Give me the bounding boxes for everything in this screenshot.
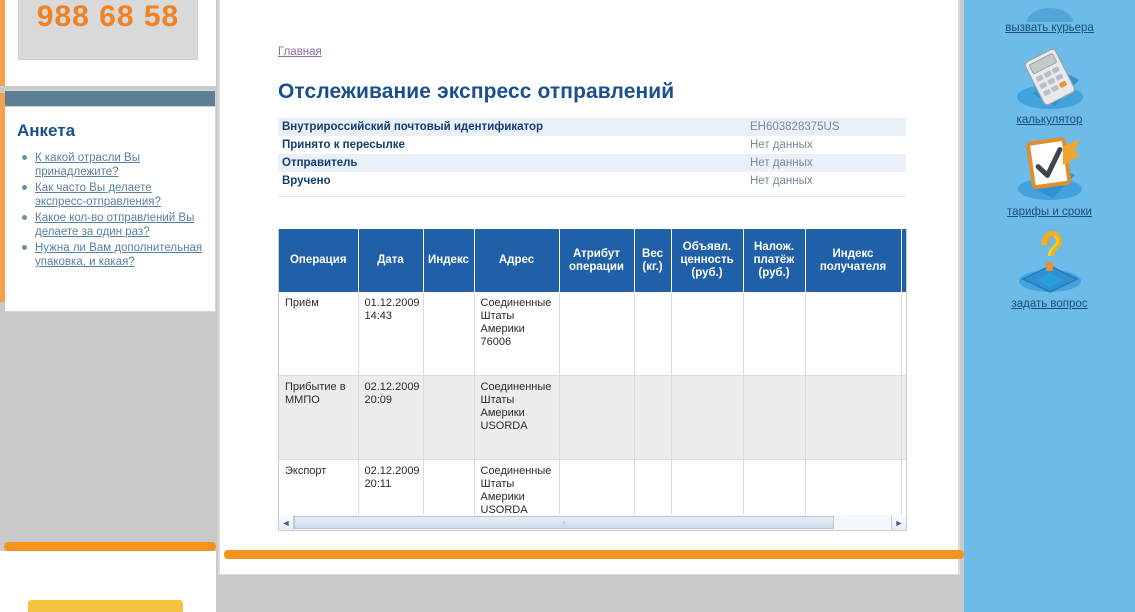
left-footer-yellow-tab [28, 600, 183, 612]
left-bottom-orange-bar [4, 542, 216, 551]
sidebar-item-calculator[interactable]: калькулятор [964, 114, 1135, 126]
table-row: Экспорт 02.12.2009 20:11 Соединенные Шта… [279, 460, 907, 516]
cell-index [423, 460, 474, 516]
cell-index [423, 292, 474, 376]
info-value: Нет данных [746, 154, 906, 172]
info-key: Вручено [278, 172, 746, 190]
cell-extra [901, 292, 907, 376]
question-mark-icon[interactable] [964, 224, 1135, 298]
column-header-cash-on-delivery[interactable]: Налож. платёж (руб.) [743, 230, 805, 292]
column-header-weight[interactable]: Вес (кг.) [634, 230, 671, 292]
cell-date: 02.12.2009 20:09 [358, 376, 423, 460]
list-item[interactable]: К какой отрасли Вы принадлежите? [33, 151, 205, 179]
info-value: Нет данных [746, 172, 906, 190]
cell-address: Соединенные Штаты Америки USORDA [474, 376, 559, 460]
sidebar-item-label[interactable]: тарифы и сроки [964, 206, 1135, 218]
cell-cod [743, 376, 805, 460]
breadcrumb-link-home[interactable]: Главная [278, 46, 322, 58]
info-key: Принято к пересылке [278, 136, 746, 154]
list-item[interactable]: Нужна ли Вам дополнительная упаковка, и … [33, 241, 205, 269]
info-value: Нет данных [746, 136, 906, 154]
table-row: Внутрироссийский почтовый идентификатор … [278, 118, 906, 136]
cell-operation: Прибытие в ММПО [279, 376, 358, 460]
calculator-icon[interactable] [964, 40, 1135, 114]
operations-table-viewport: Операция Дата Индекс Адрес Атрибут опера… [278, 229, 907, 515]
cell-declared-value [671, 376, 743, 460]
table-row: Отправитель Нет данных [278, 154, 906, 172]
horizontal-scrollbar[interactable]: ◄ ▫ ► [278, 515, 907, 531]
column-header-operation-attribute[interactable]: Атрибут операции [559, 230, 634, 292]
courier-icon[interactable] [964, 0, 1135, 22]
sidebar-item-label[interactable]: калькулятор [964, 114, 1135, 126]
column-header-index[interactable]: Индекс [423, 230, 474, 292]
cell-extra [901, 376, 907, 460]
sidebar-item-label[interactable]: вызвать курьера [964, 22, 1135, 34]
cell-attribute [559, 292, 634, 376]
operations-table: Операция Дата Индекс Адрес Атрибут опера… [279, 229, 907, 515]
cell-attribute [559, 376, 634, 460]
cell-cod [743, 460, 805, 516]
cell-date: 02.12.2009 20:11 [358, 460, 423, 516]
cell-weight [634, 376, 671, 460]
scrollbar-track[interactable]: ▫ [294, 515, 891, 530]
cell-operation: Приём [279, 292, 358, 376]
info-key: Отправитель [278, 154, 746, 172]
cell-address: Соединенные Штаты Америки 76006 [474, 292, 559, 376]
column-header-address[interactable]: Адрес [474, 230, 559, 292]
breadcrumb: Главная [278, 44, 958, 58]
sidebar-item-ask-question[interactable]: задать вопрос [964, 298, 1135, 310]
table-header-row: Операция Дата Индекс Адрес Атрибут опера… [279, 230, 907, 292]
column-header-declared-value[interactable]: Объявл. ценность (руб.) [671, 230, 743, 292]
right-sidebar: вызвать курьера калькулятор [964, 0, 1135, 612]
anketa-link-industry[interactable]: К какой отрасли Вы принадлежите? [35, 152, 140, 178]
anketa-title: Анкета [17, 121, 205, 141]
cell-address: Соединенные Штаты Америки USORDA [474, 460, 559, 516]
cell-extra [901, 460, 907, 516]
info-key: Внутрироссийский почтовый идентификатор [278, 118, 746, 136]
main-content-panel: Главная Отслеживание экспресс отправлени… [218, 0, 960, 575]
anketa-link-quantity[interactable]: Какое кол-во отправлений Вы делаете за о… [35, 212, 194, 238]
cell-cod [743, 292, 805, 376]
checklist-icon[interactable] [964, 132, 1135, 206]
info-value: EH603828375US [746, 118, 906, 136]
anketa-link-packaging[interactable]: Нужна ли Вам дополнительная упаковка, и … [35, 242, 202, 268]
list-item[interactable]: Как часто Вы делаете экспресс-отправлени… [33, 181, 205, 209]
cell-recipient-index [805, 460, 901, 516]
anketa-panel-header-bar [5, 91, 215, 107]
column-header-date[interactable]: Дата [358, 230, 423, 292]
list-item[interactable]: Какое кол-во отправлений Вы делаете за о… [33, 211, 205, 239]
phone-number: 988 68 58 [19, 1, 197, 33]
page-title: Отслеживание экспресс отправлений [278, 80, 958, 104]
sidebar-item-courier[interactable]: вызвать курьера [964, 22, 1135, 34]
column-header-recipient-index[interactable]: Индекс получателя [805, 230, 901, 292]
phone-box-backdrop [5, 60, 211, 86]
scrollbar-thumb[interactable]: ▫ [294, 516, 834, 529]
cell-declared-value [671, 460, 743, 516]
sidebar-item-label[interactable]: задать вопрос [964, 298, 1135, 310]
sidebar-item-tariffs[interactable]: тарифы и сроки [964, 206, 1135, 218]
left-sidebar: номер в Москве 988 68 58 Анкета К какой … [0, 0, 218, 612]
cell-date: 01.12.2009 14:43 [358, 292, 423, 376]
cell-weight [634, 460, 671, 516]
scroll-right-arrow-icon[interactable]: ► [891, 515, 906, 530]
cell-index [423, 376, 474, 460]
cell-operation: Экспорт [279, 460, 358, 516]
cell-declared-value [671, 292, 743, 376]
info-table-underline [278, 196, 906, 197]
cell-recipient-index [805, 292, 901, 376]
page-root: номер в Москве 988 68 58 Анкета К какой … [0, 0, 1135, 612]
anketa-question-list: К какой отрасли Вы принадлежите? Как час… [17, 151, 205, 269]
cell-recipient-index [805, 376, 901, 460]
anketa-panel: Анкета К какой отрасли Вы принадлежите? … [5, 90, 216, 312]
table-row: Принято к пересылке Нет данных [278, 136, 906, 154]
table-row: Прибытие в ММПО 02.12.2009 20:09 Соедине… [279, 376, 907, 460]
anketa-link-frequency[interactable]: Как часто Вы делаете экспресс-отправлени… [35, 182, 161, 208]
table-row: Приём 01.12.2009 14:43 Соединенные Штаты… [279, 292, 907, 376]
phone-box: номер в Москве 988 68 58 [18, 0, 198, 60]
cell-attribute [559, 460, 634, 516]
shipment-info-table: Внутрироссийский почтовый идентификатор … [278, 118, 906, 190]
content-bottom-orange-bar [224, 550, 964, 559]
column-header-extra[interactable] [901, 230, 907, 292]
table-row: Вручено Нет данных [278, 172, 906, 190]
scroll-left-arrow-icon[interactable]: ◄ [279, 515, 294, 530]
cell-weight [634, 292, 671, 376]
column-header-operation[interactable]: Операция [279, 230, 358, 292]
